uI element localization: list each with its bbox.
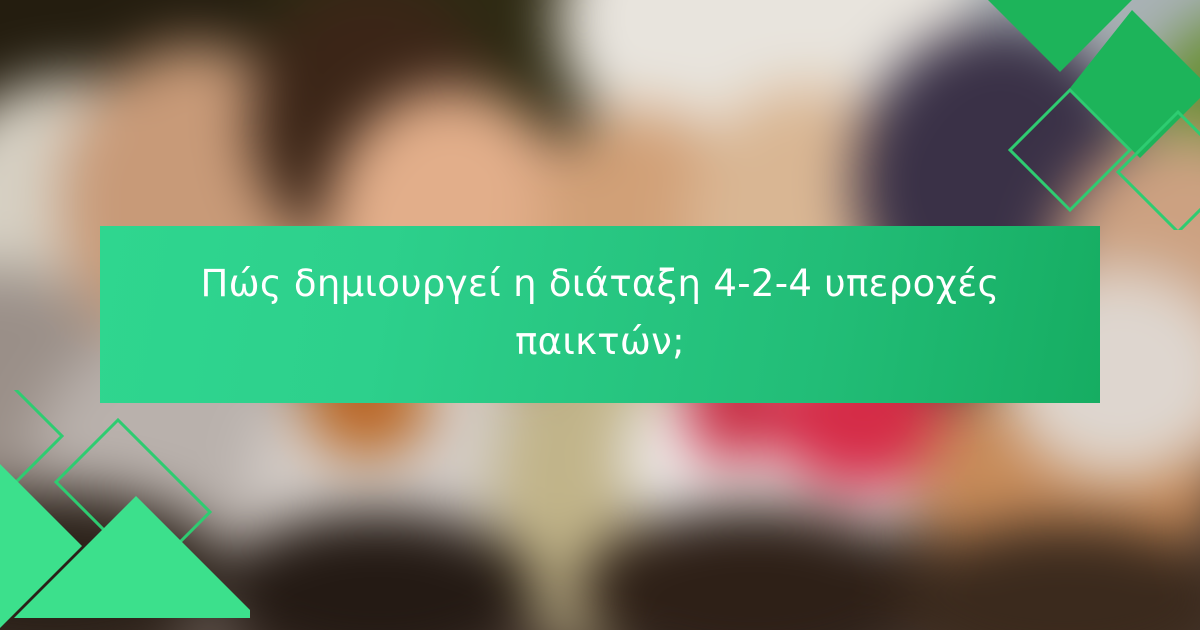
social-share-card: Πώς δημιουργεί η διάταξη 4-2-4 υπεροχές … bbox=[0, 0, 1200, 630]
banner-title: Πώς δημιουργεί η διάταξη 4-2-4 υπεροχές … bbox=[170, 255, 1030, 370]
caption-banner: Πώς δημιουργεί η διάταξη 4-2-4 υπεροχές … bbox=[100, 226, 1100, 403]
